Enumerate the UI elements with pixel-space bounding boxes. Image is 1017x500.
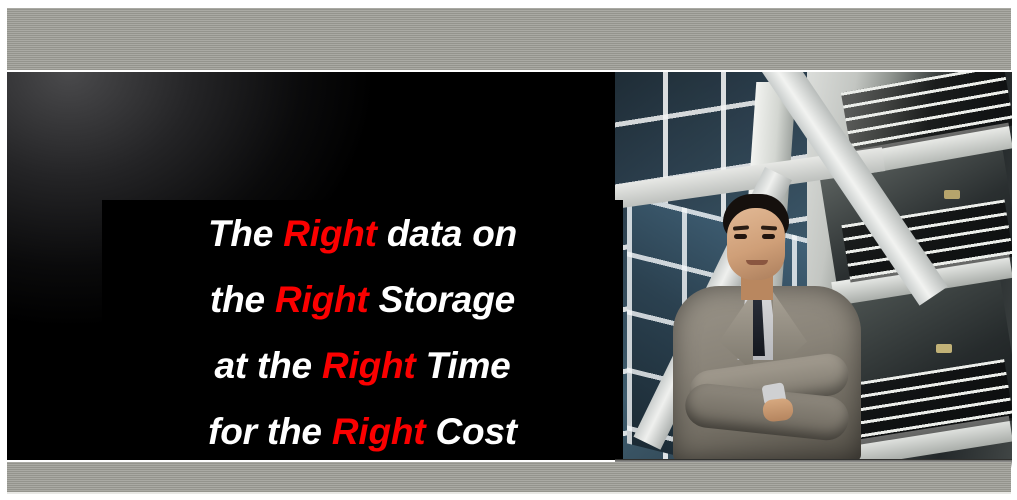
top-decorative-band (7, 8, 1011, 70)
mouth (746, 260, 768, 265)
headline-line-4-accent: Right (332, 411, 426, 452)
headline-line-1-post: data on (377, 213, 517, 254)
ceiling-lamp-2 (936, 344, 952, 353)
businessman-photo (615, 72, 1012, 459)
headline-text-box: The Right data on the Right Storage at t… (102, 200, 623, 460)
headline-line-1-pre: The (208, 213, 283, 254)
face (727, 208, 785, 280)
headline-line-3-accent: Right (322, 345, 416, 386)
headline-line-2-accent: Right (275, 279, 369, 320)
bottom-decorative-band (7, 462, 1011, 492)
eye-left (734, 234, 747, 239)
eye-right (762, 234, 775, 239)
banner-stage: The Right data on the Right Storage at t… (7, 72, 1012, 460)
headline-line-4: for the Right Cost (208, 399, 517, 460)
headline-line-1: The Right data on (208, 201, 517, 267)
headline-line-3-pre: at the (214, 345, 322, 386)
slide-canvas: The Right data on the Right Storage at t… (0, 0, 1017, 500)
headline-line-4-post: Cost (425, 411, 517, 452)
headline-line-1-accent: Right (283, 213, 377, 254)
businessman-figure (667, 194, 867, 459)
headline-line-3-post: Time (416, 345, 511, 386)
headline-line-3: at the Right Time (214, 333, 510, 399)
headline-line-2-pre: the (210, 279, 275, 320)
headline-line-2-post: Storage (369, 279, 515, 320)
headline-line-4-pre: for the (208, 411, 332, 452)
ceiling-lamp-1 (944, 190, 960, 199)
headline-line-2: the Right Storage (210, 267, 515, 333)
